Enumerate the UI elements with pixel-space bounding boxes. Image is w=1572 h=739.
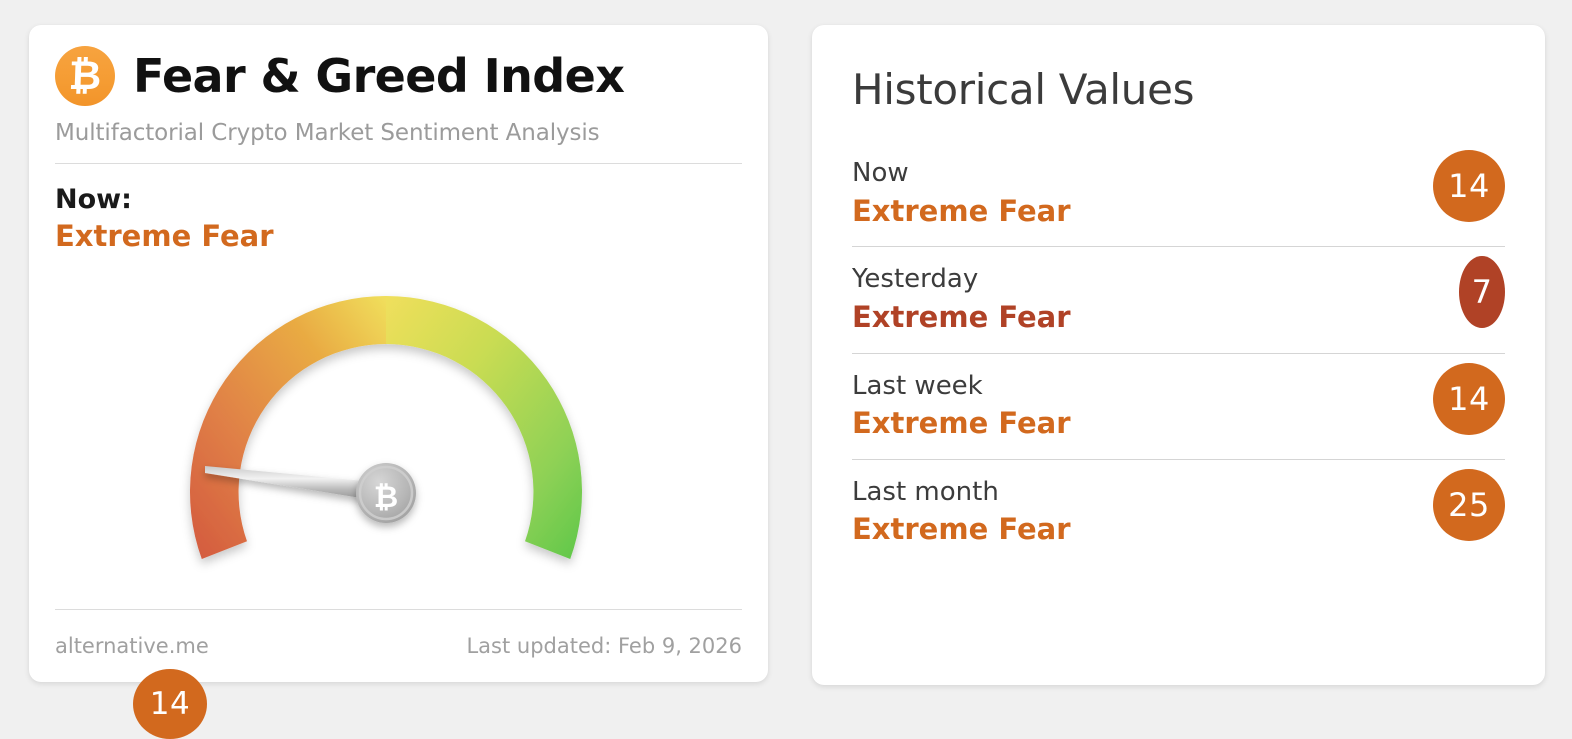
history-sentiment: Extreme Fear: [852, 194, 1505, 229]
gauge-card-header: ₿ Fear & Greed Index: [55, 25, 742, 106]
status-badge: 7: [1459, 256, 1505, 328]
history-period: Last week: [852, 370, 1505, 403]
status-badge: 25: [1433, 469, 1505, 541]
now-label: Now:: [55, 184, 742, 216]
gauge-chart: ₿ 14: [55, 255, 742, 585]
now-sentiment-value: Extreme Fear: [55, 219, 742, 253]
list-item[interactable]: Yesterday Extreme Fear 7: [852, 247, 1505, 353]
history-sentiment: Extreme Fear: [852, 406, 1505, 441]
bitcoin-glyph: ₿: [54, 56, 115, 96]
list-item[interactable]: Now Extreme Fear 14: [852, 141, 1505, 247]
header-divider: [55, 163, 742, 164]
last-updated-text: Last updated: Feb 9, 2026: [466, 634, 742, 658]
page-title: Fear & Greed Index: [133, 53, 624, 99]
fear-greed-gauge-card: ₿ Fear & Greed Index Multifactorial Cryp…: [29, 25, 768, 682]
gauge-card-footer: alternative.me Last updated: Feb 9, 2026: [55, 634, 742, 658]
gauge-svg: ₿: [55, 255, 742, 595]
page-root: ₿ Fear & Greed Index Multifactorial Cryp…: [0, 0, 1572, 716]
list-item[interactable]: Last month Extreme Fear 25: [852, 460, 1505, 565]
historical-values-card: Historical Values Now Extreme Fear 14 Ye…: [812, 25, 1545, 685]
gauge-arc-left: [190, 296, 386, 559]
current-reading: Now: Extreme Fear: [55, 184, 742, 253]
source-link[interactable]: alternative.me: [55, 634, 209, 658]
history-period: Yesterday: [852, 263, 1505, 296]
history-period: Now: [852, 157, 1505, 190]
gauge-arc-right: [386, 296, 582, 559]
history-period: Last month: [852, 476, 1505, 509]
bitcoin-hub-glyph: ₿: [374, 480, 398, 515]
page-subtitle: Multifactorial Crypto Market Sentiment A…: [55, 120, 742, 146]
historical-values-list: Now Extreme Fear 14 Yesterday Extreme Fe…: [852, 141, 1505, 565]
historical-values-title: Historical Values: [852, 25, 1505, 111]
bitcoin-icon: ₿: [55, 46, 115, 106]
status-badge: 14: [1433, 363, 1505, 435]
footer-divider: [55, 609, 742, 610]
history-sentiment: Extreme Fear: [852, 300, 1505, 335]
list-item[interactable]: Last week Extreme Fear 14: [852, 354, 1505, 460]
gauge-value-badge: 14: [133, 669, 207, 739]
history-sentiment: Extreme Fear: [852, 512, 1505, 547]
status-badge: 14: [1433, 150, 1505, 222]
